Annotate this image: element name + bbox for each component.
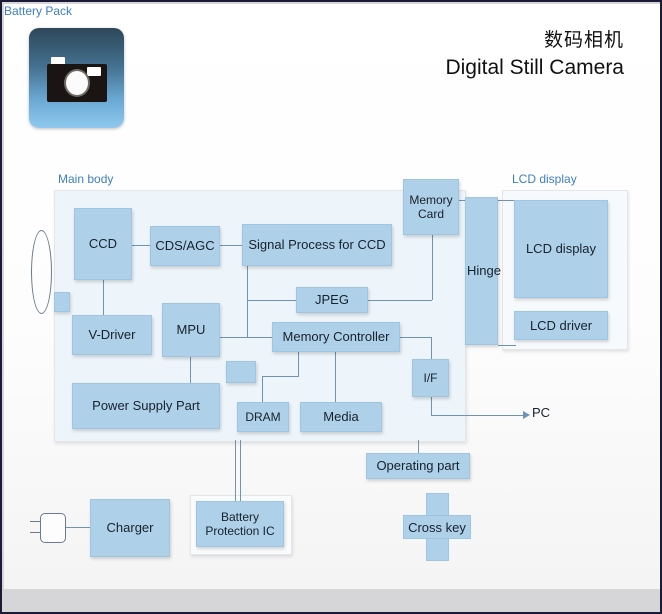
arrow-pc-icon	[523, 411, 530, 419]
block-label-memory-controller: Memory Controller	[283, 330, 390, 344]
block-operating-part[interactable]: Operating part	[366, 453, 470, 479]
block-label-memory-card-line2: Card	[409, 207, 452, 221]
group-label-battery-pack: Battery Pack	[4, 4, 660, 18]
connector-mpu-memorycontroller	[220, 337, 272, 338]
block-media[interactable]: Media	[300, 402, 382, 432]
block-mpu[interactable]: MPU	[162, 303, 220, 357]
block-main-body-connector	[54, 292, 70, 312]
connector-ccd-vdriver	[103, 280, 104, 315]
plug-shell	[40, 513, 66, 543]
connector-if-pc-v	[431, 397, 432, 415]
block-hinge[interactable]: Hinge	[465, 197, 498, 345]
block-lcd-driver[interactable]: LCD driver	[514, 311, 608, 340]
block-label-interface: I/F	[424, 371, 438, 385]
connector-signalprocess-bus	[247, 266, 248, 337]
connector-memctrl-if-v	[431, 337, 432, 359]
block-label-battery-protection-line2: Protection IC	[205, 524, 274, 538]
block-memory-controller[interactable]: Memory Controller	[272, 322, 400, 352]
block-label-power-supply-part: Power Supply Part	[92, 399, 200, 413]
block-label-cds-agc: CDS/AGC	[155, 239, 214, 253]
connector-mpu-powersupply	[190, 357, 191, 383]
block-interface[interactable]: I/F	[412, 359, 449, 397]
power-plug-icon	[30, 511, 64, 543]
block-label-dram: DRAM	[245, 410, 280, 424]
connector-hinge-lcdgroup-bottom	[498, 345, 516, 346]
connector-ccd-cds	[132, 245, 150, 246]
title-english: Digital Still Camera	[445, 54, 624, 82]
block-label-lcd-driver: LCD driver	[530, 319, 592, 333]
block-label-operating-part: Operating part	[376, 459, 459, 473]
block-lcd-display[interactable]: LCD display	[514, 200, 608, 298]
block-label-v-driver: V-Driver	[89, 328, 136, 342]
block-label-mpu: MPU	[177, 323, 206, 337]
block-memory-card[interactable]: Memory Card	[403, 179, 459, 235]
connector-memctrl-dram-h	[262, 376, 299, 377]
endpoint-label-pc: PC	[532, 405, 550, 420]
screenshot-frame: 数码相机 Digital Still Camera Main body LCD …	[0, 0, 662, 614]
block-cross-key[interactable]: Cross key	[403, 493, 471, 561]
connector-memctrl-dram-v2	[262, 376, 263, 402]
block-ccd[interactable]: CCD	[74, 208, 132, 280]
connector-mainbody-battery-1	[235, 440, 236, 501]
connector-bus-jpeg	[247, 300, 296, 301]
lens-icon	[31, 230, 52, 314]
connector-memctrl-if-h	[400, 337, 431, 338]
block-label-memory-card-line1: Memory	[409, 193, 452, 207]
connector-jpeg-memorycard-h	[368, 300, 432, 301]
group-label-main-body: Main body	[58, 172, 113, 186]
diagram-page: 数码相机 Digital Still Camera Main body LCD …	[4, 4, 660, 589]
block-label-charger: Charger	[107, 521, 154, 535]
block-dram[interactable]: DRAM	[237, 402, 289, 432]
connector-memctrl-dram-v1	[298, 352, 299, 376]
block-label-cross-key: Cross key	[403, 515, 471, 539]
title-chinese: 数码相机	[445, 28, 624, 54]
connector-mainbody-battery-2	[240, 440, 241, 501]
block-jpeg[interactable]: JPEG	[296, 287, 368, 313]
block-label-battery-protection-line1: Battery	[205, 510, 274, 524]
block-label-jpeg: JPEG	[315, 293, 349, 307]
connector-plug-charger	[64, 527, 90, 528]
connector-mainbody-operatingpart	[418, 440, 419, 453]
block-label-signal-process: Signal Process for CCD	[248, 238, 385, 252]
block-label-ccd: CCD	[89, 237, 117, 251]
camera-icon	[29, 28, 124, 128]
camera-flash-shape	[87, 67, 101, 76]
camera-lens-shape	[64, 69, 90, 97]
block-label-media: Media	[323, 410, 358, 424]
connector-memctrl-media	[335, 352, 336, 402]
connector-if-pc-h	[431, 415, 524, 416]
connector-memorycard-v	[432, 235, 433, 300]
block-unlabeled-small	[226, 361, 256, 383]
block-battery-protection-ic[interactable]: Battery Protection IC	[196, 501, 284, 547]
block-v-driver[interactable]: V-Driver	[72, 315, 152, 355]
block-power-supply-part[interactable]: Power Supply Part	[72, 383, 220, 429]
group-label-lcd-display: LCD display	[512, 172, 577, 186]
block-cds-agc[interactable]: CDS/AGC	[150, 226, 220, 266]
block-charger[interactable]: Charger	[90, 499, 170, 557]
block-signal-process-for-ccd[interactable]: Signal Process for CCD	[242, 224, 392, 266]
block-label-hinge: Hinge	[467, 264, 497, 278]
connector-cds-signalprocess	[220, 245, 242, 246]
block-label-lcd-display: LCD display	[526, 242, 596, 256]
page-title: 数码相机 Digital Still Camera	[445, 28, 624, 82]
